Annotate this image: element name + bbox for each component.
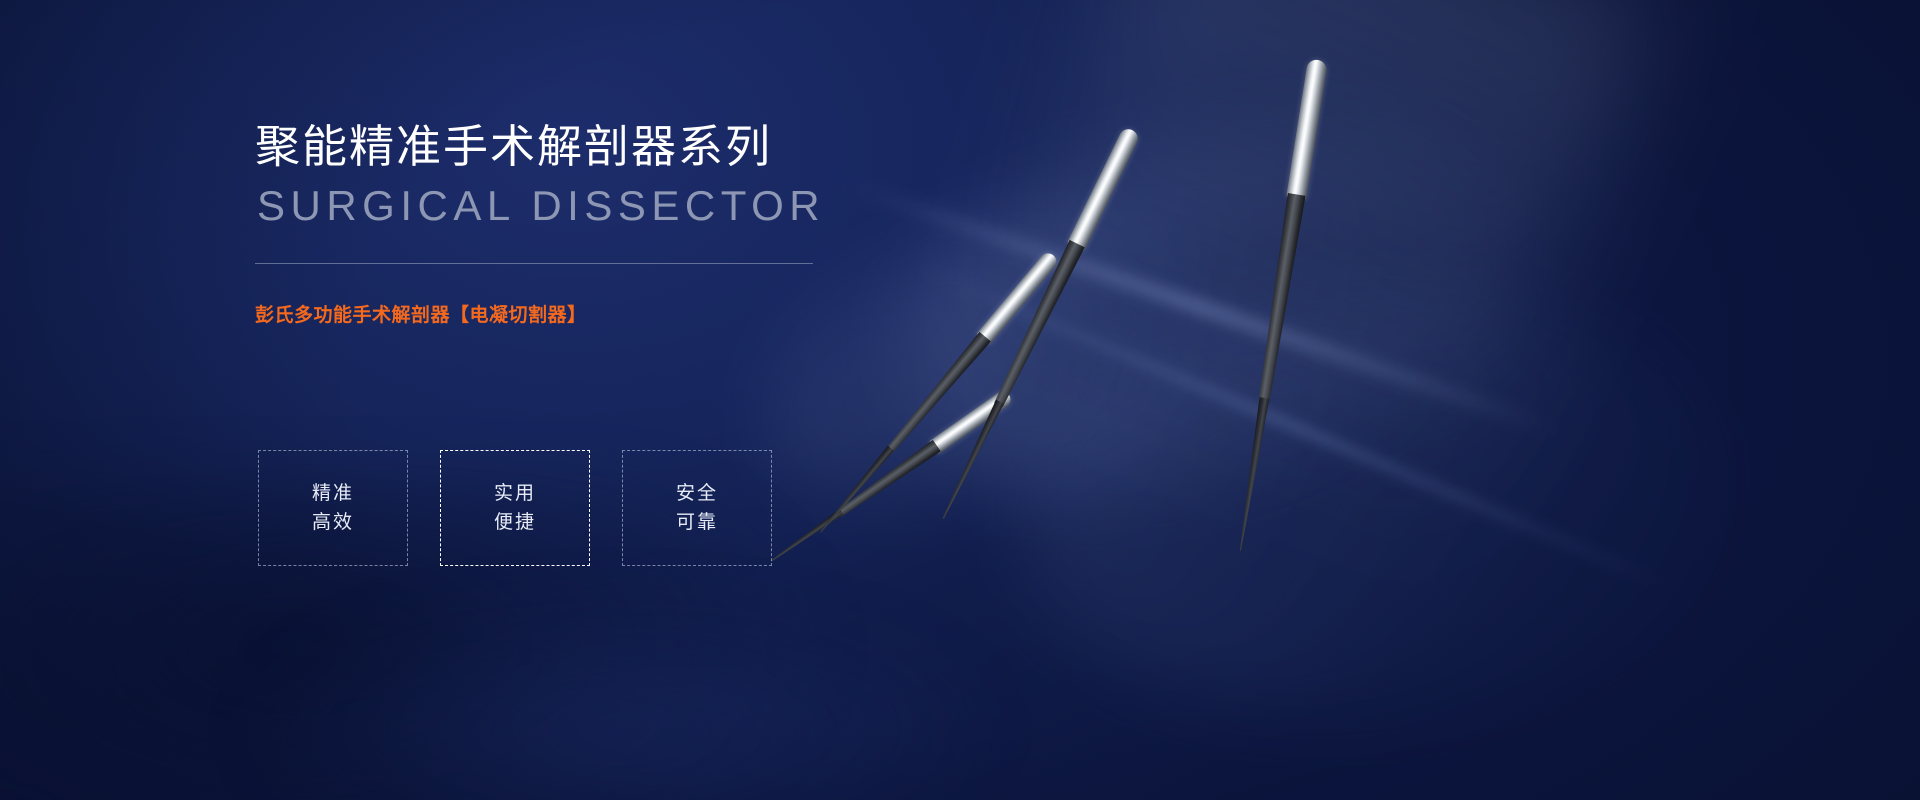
hero-text-block: 聚能精准手术解剖器系列 SURGICAL DISSECTOR 彭氏多功能手术解剖… xyxy=(255,120,875,327)
feature-box-1[interactable]: 精准 高效 xyxy=(258,450,408,566)
feature-box-1-line1: 精准 xyxy=(312,484,354,503)
title-divider xyxy=(255,263,813,264)
feature-box-group: 精准 高效 实用 便捷 安全 可靠 xyxy=(258,450,772,566)
feature-box-2-line2: 便捷 xyxy=(494,513,536,532)
feature-box-3[interactable]: 安全 可靠 xyxy=(622,450,772,566)
page-subtitle-english: SURGICAL DISSECTOR xyxy=(257,183,875,229)
feature-box-3-line2: 可靠 xyxy=(676,513,718,532)
feature-box-2-line1: 实用 xyxy=(494,484,536,503)
product-hero-banner: 聚能精准手术解剖器系列 SURGICAL DISSECTOR 彭氏多功能手术解剖… xyxy=(0,0,1920,800)
feature-box-1-line2: 高效 xyxy=(312,513,354,532)
page-title: 聚能精准手术解剖器系列 xyxy=(255,120,875,173)
product-name-highlight: 彭氏多功能手术解剖器【电凝切割器】 xyxy=(255,300,875,327)
feature-box-2[interactable]: 实用 便捷 xyxy=(440,450,590,566)
feature-box-3-line1: 安全 xyxy=(676,484,718,503)
